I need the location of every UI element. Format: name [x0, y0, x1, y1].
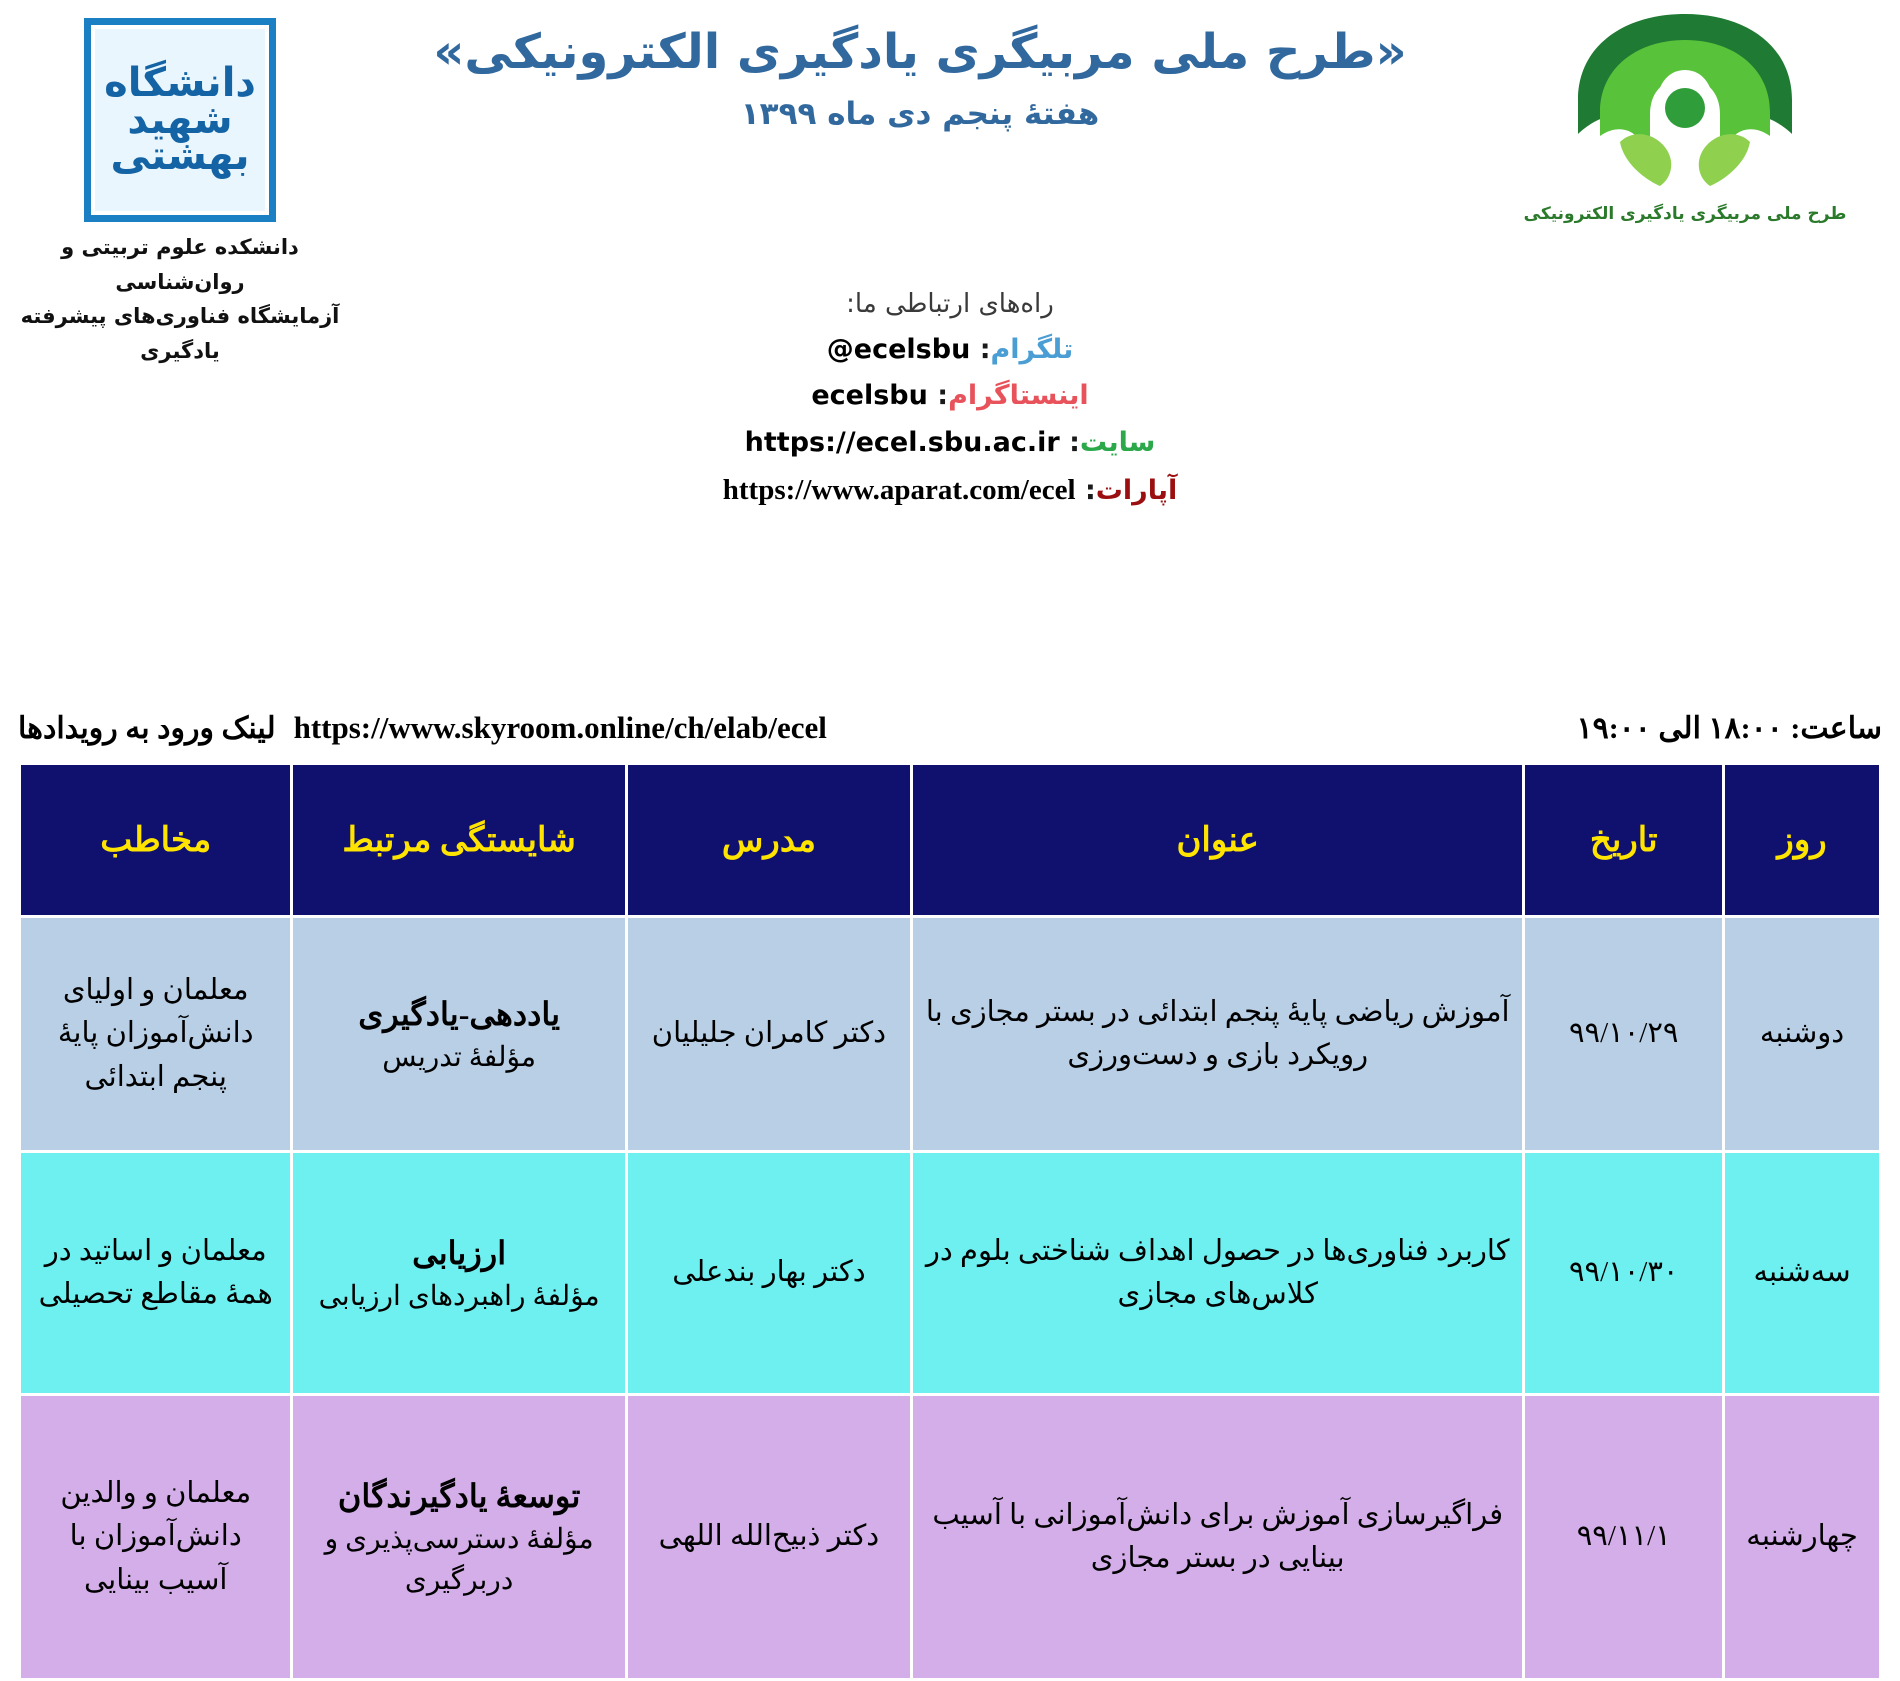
contact-label-site: سایت	[1080, 427, 1155, 458]
event-link-group: لینک ورود به رویدادها https://www.skyroo…	[18, 710, 827, 746]
schedule-table-wrapper: روز تاریخ عنوان مدرس شایستگی مرتبط مخاطب…	[18, 762, 1882, 1681]
cell-audience: معلمان و اساتید در همهٔ مقاطع تحصیلی	[21, 1153, 290, 1393]
event-link-url[interactable]: https://www.skyroom.online/ch/elab/ecel	[294, 710, 827, 746]
contact-label-telegram: تلگرام	[991, 334, 1074, 365]
contact-sep-instagram: :	[937, 380, 948, 411]
competency-sub: مؤلفهٔ تدریس	[305, 1038, 612, 1079]
cell-instructor: دکتر کامران جلیلیان	[628, 918, 910, 1150]
contact-sep-site: :	[1069, 427, 1080, 458]
cell-date: ۹۹/۱۰/۲۹	[1525, 918, 1722, 1150]
schedule-table: روز تاریخ عنوان مدرس شایستگی مرتبط مخاطب…	[18, 762, 1882, 1681]
contact-label-aparat: آپارات	[1096, 475, 1177, 506]
event-link-bar: لینک ورود به رویدادها https://www.skyroo…	[0, 700, 1900, 756]
contact-row-instagram: اینستاگرام: ecelsbu	[0, 373, 1900, 419]
column-header-date: تاریخ	[1525, 765, 1722, 915]
page-subtitle: هفتهٔ پنجم دی ماه ۱۳۹۹	[360, 96, 1480, 132]
cell-instructor: دکتر بهار بندعلی	[628, 1153, 910, 1393]
contact-sep-telegram: :	[980, 334, 991, 365]
table-row: چهارشنبه ۹۹/۱۱/۱ فراگیرسازی آموزش برای د…	[21, 1396, 1879, 1678]
cell-day: دوشنبه	[1725, 918, 1879, 1150]
contact-value-site[interactable]: https://ecel.sbu.ac.ir	[745, 420, 1060, 466]
cell-title: آموزش ریاضی پایهٔ پنجم ابتدائی در بستر م…	[913, 918, 1522, 1150]
competency-sub: مؤلفهٔ دسترسی‌پذیری و دربرگیری	[305, 1520, 612, 1601]
cell-competency: ارزیابی مؤلفهٔ راهبردهای ارزیابی	[293, 1153, 624, 1393]
event-time-label: ساعت: ۱۸:۰۰ الی ۱۹:۰۰	[1570, 711, 1882, 746]
contact-value-telegram[interactable]: @ecelsbu	[827, 327, 971, 373]
contact-heading: راه‌های ارتباطی ما:	[0, 282, 1900, 327]
contact-row-aparat: آپارات: https://www.aparat.com/ecel	[0, 466, 1900, 516]
contact-value-instagram[interactable]: ecelsbu	[811, 373, 928, 419]
competency-sub: مؤلفهٔ راهبردهای ارزیابی	[305, 1277, 612, 1318]
contact-row-site: سایت: https://ecel.sbu.ac.ir	[0, 420, 1900, 466]
ecel-branding: طرح ملی مربیگری یادگیری الکترونیکی	[1490, 8, 1880, 224]
contact-value-aparat[interactable]: https://www.aparat.com/ecel	[723, 466, 1076, 516]
cell-date: ۹۹/۱۱/۱	[1525, 1396, 1722, 1678]
column-header-audience: مخاطب	[21, 765, 290, 915]
ecel-logo-icon	[1560, 8, 1810, 198]
column-header-day: روز	[1725, 765, 1879, 915]
cell-date: ۹۹/۱۰/۳۰	[1525, 1153, 1722, 1393]
ecel-logo-caption: طرح ملی مربیگری یادگیری الکترونیکی	[1490, 204, 1880, 224]
cell-day: چهارشنبه	[1725, 1396, 1879, 1678]
column-header-instructor: مدرس	[628, 765, 910, 915]
sbu-logo-icon: دانشگاه شهید بهشتی	[84, 18, 276, 222]
poster-header: دانشگاه شهید بهشتی دانشکده علوم تربیتی و…	[0, 0, 1900, 330]
column-header-title: عنوان	[913, 765, 1522, 915]
cell-day: سه‌شنبه	[1725, 1153, 1879, 1393]
contact-label-instagram: اینستاگرام	[948, 380, 1089, 411]
contact-block: راه‌های ارتباطی ما: تلگرام: @ecelsbu این…	[0, 282, 1900, 516]
table-row: دوشنبه ۹۹/۱۰/۲۹ آموزش ریاضی پایهٔ پنجم ا…	[21, 918, 1879, 1150]
sbu-logo-line-3: بهشتی	[111, 138, 250, 175]
contact-sep-aparat: :	[1085, 475, 1096, 506]
column-header-competency: شایستگی مرتبط	[293, 765, 624, 915]
table-header-row: روز تاریخ عنوان مدرس شایستگی مرتبط مخاطب	[21, 765, 1879, 915]
contact-row-telegram: تلگرام: @ecelsbu	[0, 327, 1900, 373]
title-block: «طرح ملی مربیگری یادگیری الکترونیکی» هفت…	[360, 22, 1480, 132]
cell-audience: معلمان و والدین دانش‌آموزان با آسیب بینا…	[21, 1396, 290, 1678]
cell-competency: یاددهی-یادگیری مؤلفهٔ تدریس	[293, 918, 624, 1150]
competency-main: یاددهی-یادگیری	[305, 990, 612, 1038]
page-title: «طرح ملی مربیگری یادگیری الکترونیکی»	[360, 22, 1480, 82]
cell-competency: توسعهٔ یادگیرندگان مؤلفهٔ دسترسی‌پذیری و…	[293, 1396, 624, 1678]
event-link-label: لینک ورود به رویدادها	[18, 711, 276, 746]
cell-instructor: دکتر ذبیح‌الله اللهی	[628, 1396, 910, 1678]
table-row: سه‌شنبه ۹۹/۱۰/۳۰ کاربرد فناوری‌ها در حصو…	[21, 1153, 1879, 1393]
cell-title: فراگیرسازی آموزش برای دانش‌آموزانی با آس…	[913, 1396, 1522, 1678]
competency-main: توسعهٔ یادگیرندگان	[305, 1472, 612, 1520]
competency-main: ارزیابی	[305, 1229, 612, 1277]
cell-audience: معلمان و اولیای دانش‌آموزان پایهٔ پنجم ا…	[21, 918, 290, 1150]
cell-title: کاربرد فناوری‌ها در حصول اهداف شناختی بل…	[913, 1153, 1522, 1393]
